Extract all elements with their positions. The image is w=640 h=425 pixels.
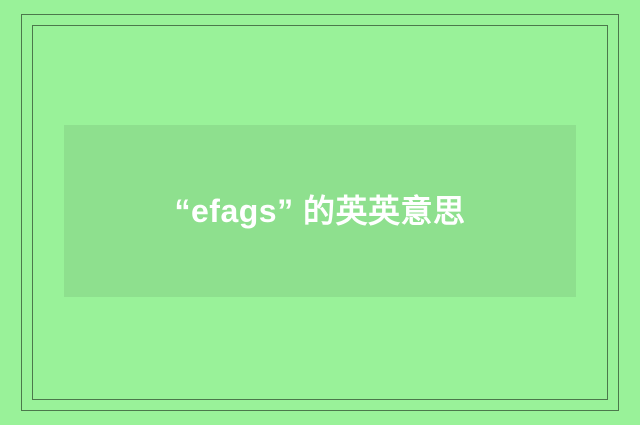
banner-canvas: “efags” 的英英意思	[0, 0, 640, 425]
banner-title: “efags” 的英英意思	[110, 182, 530, 240]
title-band: “efags” 的英英意思	[64, 125, 576, 297]
